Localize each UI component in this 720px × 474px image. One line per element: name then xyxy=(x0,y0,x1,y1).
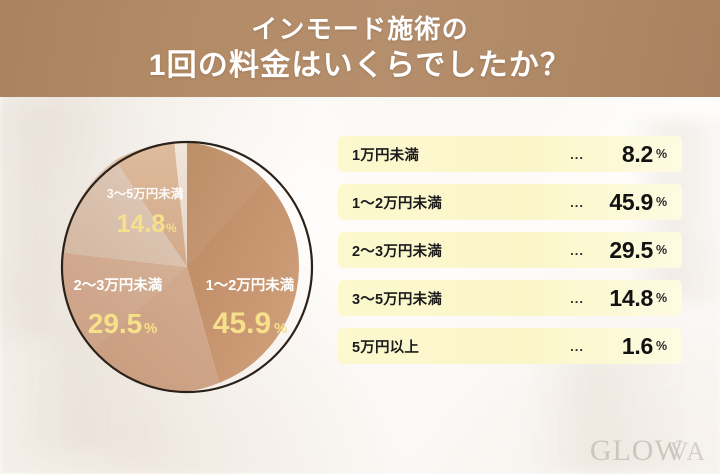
legend-row-under-1man[interactable]: 1万円未満 ... 8.2 % xyxy=(338,136,682,172)
legend-percent-sign: % xyxy=(656,147,670,161)
legend-dots: ... xyxy=(570,147,584,162)
legend-percent-sign: % xyxy=(656,339,670,353)
legend-dots: ... xyxy=(570,339,584,354)
header-title-line-2: 1回の料金はいくらでしたか？ xyxy=(149,50,572,82)
legend-value: 14.8 xyxy=(591,285,653,312)
legend-table: 1万円未満 ... 8.2 % 1〜2万円未満 ... 45.9 % 2〜3万円… xyxy=(338,136,682,364)
header-title-line-1: インモード施術の xyxy=(251,15,469,43)
legend-label: 1〜2万円未満 xyxy=(352,192,570,213)
pie-label-3-5man: 3〜5万円未満 xyxy=(107,186,184,201)
pie-unit-3-5man: % xyxy=(166,221,177,235)
legend-dots: ... xyxy=(570,243,584,258)
legend-value: 1.6 xyxy=(591,333,653,360)
legend-dots: ... xyxy=(570,195,584,210)
infographic-root: インモード施術の 1回の料金はいくらでしたか？ xyxy=(0,0,720,474)
legend-row-over-5man[interactable]: 5万円以上 ... 1.6 % xyxy=(338,328,682,364)
legend-percent-sign: % xyxy=(656,291,670,305)
legend-label: 5万円以上 xyxy=(352,336,570,357)
pie-value-2-3man: 29.5 xyxy=(88,308,143,339)
legend-row-2-3man[interactable]: 2〜3万円未満 ... 29.5 % xyxy=(338,232,682,268)
pie-unit-2-3man: % xyxy=(144,320,157,337)
brand-watermark: GLOW VA xyxy=(590,436,706,466)
pie-value-3-5man: 14.8 xyxy=(117,210,166,238)
legend-value: 29.5 xyxy=(591,237,653,264)
legend-dots: ... xyxy=(570,291,584,306)
pie-value-1-2man: 45.9 xyxy=(213,307,271,340)
legend-row-1-2man[interactable]: 1〜2万円未満 ... 45.9 % xyxy=(338,184,682,220)
pie-chart: 1〜2万円未満 45.9 % 2〜3万円未満 29.5 % 3〜5万円未満 14… xyxy=(58,138,316,396)
legend-label: 2〜3万円未満 xyxy=(352,240,570,261)
legend-value: 45.9 xyxy=(591,189,653,216)
legend-row-3-5man[interactable]: 3〜5万円未満 ... 14.8 % xyxy=(338,280,682,316)
legend-label: 3〜5万円未満 xyxy=(352,288,570,309)
pie-label-1-2man: 1〜2万円未満 xyxy=(206,276,295,294)
legend-value: 8.2 xyxy=(591,141,653,168)
watermark-sub-text: VA xyxy=(670,439,706,465)
legend-percent-sign: % xyxy=(656,195,670,209)
pie-unit-1-2man: % xyxy=(274,320,287,337)
legend-percent-sign: % xyxy=(656,243,670,257)
pie-chart-svg: 1〜2万円未満 45.9 % 2〜3万円未満 29.5 % 3〜5万円未満 14… xyxy=(58,138,316,396)
header-banner: インモード施術の 1回の料金はいくらでしたか？ xyxy=(0,0,720,97)
pie-label-2-3man: 2〜3万円未満 xyxy=(74,276,163,294)
legend-label: 1万円未満 xyxy=(352,144,570,165)
